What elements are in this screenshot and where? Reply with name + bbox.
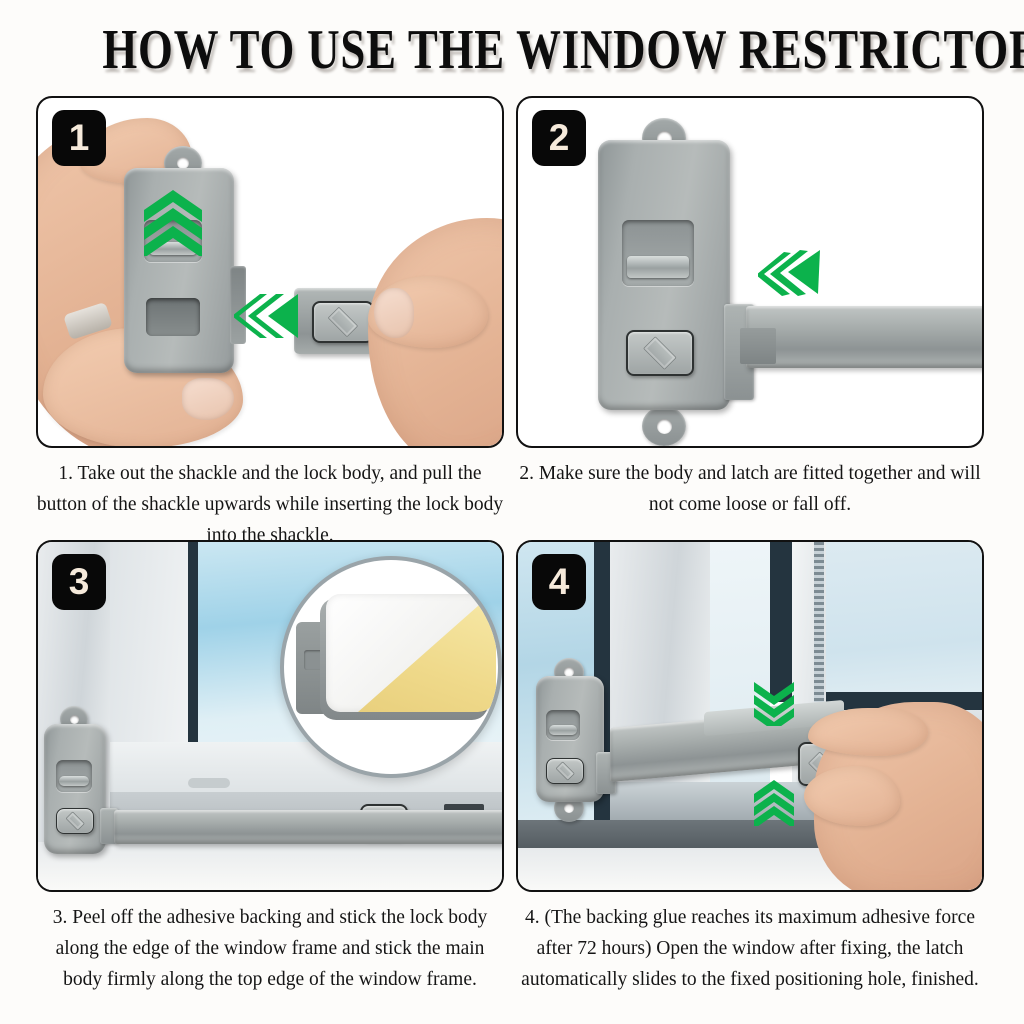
right-hand-nail: [374, 288, 414, 338]
step-card-4: 4 4. (The backing glue reaches its maxim…: [516, 540, 986, 995]
step-photo-4: 4: [516, 540, 984, 892]
step-caption-1: 1. Take out the shackle and the lock bod…: [36, 458, 504, 551]
slider-button-well: [56, 760, 92, 792]
slider-button-well: [622, 220, 694, 286]
step-caption-3: 3. Peel off the adhesive backing and sti…: [36, 902, 504, 995]
step-photo-2: 2: [516, 96, 984, 448]
magnifier-inset: [280, 556, 502, 778]
latch-arm: [746, 306, 984, 368]
glazing-bead-middle: [770, 542, 792, 702]
sash-screen-strip: [814, 542, 824, 702]
slider-button-well: [546, 710, 580, 740]
step-caption-4: 4. (The backing glue reaches its maximum…: [516, 902, 984, 995]
latch-arm-notch: [740, 328, 776, 364]
lock-diamond-button[interactable]: [56, 808, 94, 834]
lock-diamond-button[interactable]: [626, 330, 694, 376]
step-photo-3: 3: [36, 540, 504, 892]
step-card-2: 2 2. Make sure the body and latch are fi…: [516, 96, 986, 520]
step-number-1: 1: [52, 110, 106, 166]
slider-button[interactable]: [627, 256, 689, 278]
slider-button[interactable]: [549, 725, 577, 735]
hand-index-finger: [808, 708, 928, 756]
step-card-1: 1 1. Take out the shackle and the lock b…: [36, 96, 506, 551]
arrow-left-chevrons: [234, 294, 298, 338]
slider-button[interactable]: [59, 776, 89, 786]
latch-diamond-button[interactable]: [312, 301, 374, 343]
lock-diamond-button[interactable]: [546, 758, 584, 784]
track-slot: [188, 778, 230, 788]
diamond-glyph: [328, 307, 358, 337]
page-title: HOW TO USE THE WINDOW RESTRICTOR: [102, 18, 921, 82]
arrow-left-chevrons: [758, 248, 820, 298]
lock-body-mount-ear-bottom: [642, 406, 686, 446]
step-number-2: 2: [532, 110, 586, 166]
infographic-page: HOW TO USE THE WINDOW RESTRICTOR: [0, 0, 1024, 1024]
latch-arm: [114, 810, 504, 844]
window-sill: [38, 842, 504, 892]
step-number-3: 3: [52, 554, 106, 610]
step-photo-1: 1: [36, 96, 504, 448]
step-card-3: 3 3. Peel off the adhesive backing and s…: [36, 540, 506, 995]
arrow-up-chevrons: [142, 190, 204, 256]
diamond-glyph: [643, 336, 676, 369]
diamond-glyph: [555, 761, 575, 781]
arrow-down-chevrons: [754, 682, 794, 726]
diamond-glyph: [65, 811, 85, 831]
step-number-4: 4: [532, 554, 586, 610]
lock-body-window-slot: [146, 298, 200, 336]
step-caption-2: 2. Make sure the body and latch are fitt…: [516, 458, 984, 520]
arrow-up-chevrons: [754, 780, 794, 826]
